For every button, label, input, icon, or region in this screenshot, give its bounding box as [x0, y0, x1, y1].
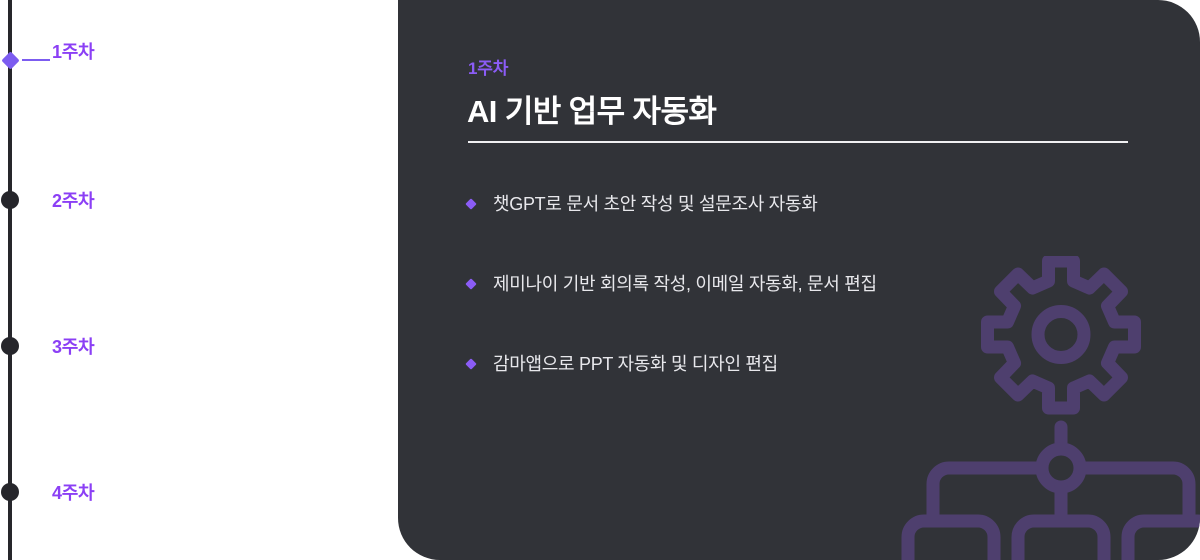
timeline-label-week1: 1주차: [52, 38, 94, 64]
diamond-bullet-icon: [465, 278, 476, 289]
page-title: AI 기반 업무 자동화: [467, 86, 716, 131]
diamond-bullet-icon: [465, 358, 476, 369]
list-item-text: 제미나이 기반 회의록 작성, 이메일 자동화, 문서 편집: [493, 274, 877, 294]
timeline-item-week1[interactable]: 1주차: [0, 40, 398, 80]
timeline-label-week3: 3주차: [52, 333, 94, 359]
timeline-marker-dot: [1, 337, 19, 355]
timeline-nav: 1주차 2주차 3주차 4주차: [0, 0, 398, 560]
timeline-marker-active: [0, 49, 21, 71]
diamond-bullet-icon: [465, 198, 476, 209]
timeline-item-week4[interactable]: 4주차: [0, 472, 398, 512]
panel-eyebrow: 1주차: [468, 54, 508, 79]
timeline-marker-dot: [1, 191, 19, 209]
timeline-connector: [22, 59, 50, 61]
timeline-item-week3[interactable]: 3주차: [0, 326, 398, 366]
slide-root: 1주차 2주차 3주차 4주차: [0, 0, 1200, 560]
list-item-text: 감마앱으로 PPT 자동화 및 디자인 편집: [493, 354, 778, 374]
list-item: 챗GPT로 문서 초안 작성 및 설문조사 자동화: [464, 186, 877, 266]
list-item: 감마앱으로 PPT 자동화 및 디자인 편집: [464, 346, 877, 426]
bullet-list: 챗GPT로 문서 초안 작성 및 설문조사 자동화 제미나이 기반 회의록 작성…: [464, 186, 877, 426]
timeline-label-week4: 4주차: [52, 479, 94, 505]
list-item-text: 챗GPT로 문서 초안 작성 및 설문조사 자동화: [493, 194, 817, 214]
timeline-item-week2[interactable]: 2주차: [0, 180, 398, 220]
title-divider: [468, 141, 1128, 143]
timeline-label-week2: 2주차: [52, 187, 94, 213]
timeline-marker-dot: [1, 483, 19, 501]
content-panel: 1주차 AI 기반 업무 자동화 챗GPT로 문서 초안 작성 및 설문조사 자…: [398, 0, 1200, 560]
diamond-marker-icon: [1, 51, 19, 69]
list-item: 제미나이 기반 회의록 작성, 이메일 자동화, 문서 편집: [464, 266, 877, 346]
